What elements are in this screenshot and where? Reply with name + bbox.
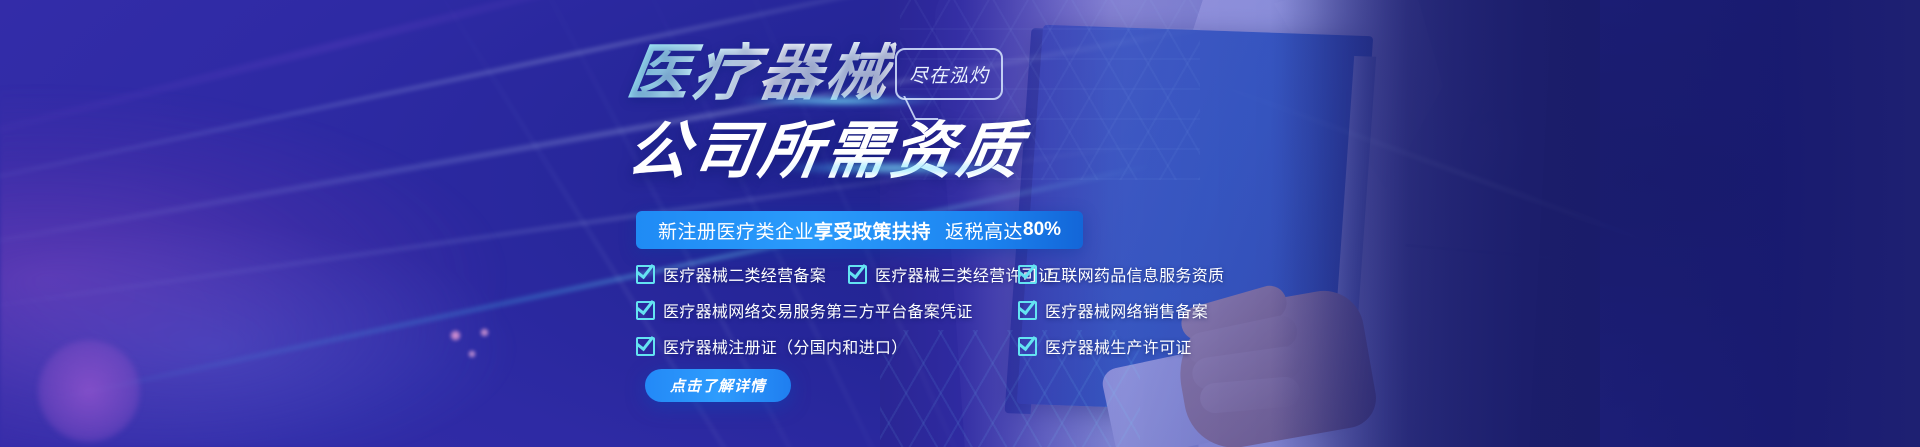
brand-badge: 尽在泓灼 [895,48,1003,100]
qualification-checklist: 医疗器械二类经营备案 医疗器械三类经营许可证 互联网药品信息服务资质 [636,262,1376,370]
brand-badge-label: 尽在泓灼 [909,61,989,88]
list-item[interactable]: 医疗器械注册证（分国内和进口） [636,334,908,358]
banner-content: 医疗器械 公司所需资质 尽在泓灼 新注册医疗类企业 享受政策扶持 返税高达 80… [0,0,1920,447]
checklist-label: 医疗器械生产许可证 [1045,334,1192,358]
checklist-column-right: 医疗器械网络销售备案 [1018,298,1358,322]
list-item[interactable]: 医疗器械网络销售备案 [1018,298,1208,322]
checklist-row: 医疗器械注册证（分国内和进口） 医疗器械生产许可证 [636,334,1376,362]
checklist-label: 医疗器械二类经营备案 [663,262,826,286]
learn-more-button-label: 点击了解详情 [670,375,766,396]
checkbox-checked-icon [1018,337,1037,356]
list-item[interactable]: 医疗器械网络交易服务第三方平台备案凭证 [636,298,973,322]
checklist-label: 互联网药品信息服务资质 [1045,262,1224,286]
promo-text-3: 返税高达 [945,217,1023,244]
checkbox-checked-icon [636,265,655,284]
checkbox-checked-icon [1018,265,1037,284]
promo-text-4: 80% [1023,219,1061,241]
checklist-label: 医疗器械注册证（分国内和进口） [663,334,908,358]
promo-text-1: 新注册医疗类企业 [658,217,814,244]
headline-line1: 医疗器械 [623,42,897,104]
checklist-row: 医疗器械二类经营备案 医疗器械三类经营许可证 互联网药品信息服务资质 [636,262,1376,290]
checklist-row: 医疗器械网络交易服务第三方平台备案凭证 医疗器械网络销售备案 [636,298,1376,326]
checkbox-checked-icon [636,337,655,356]
checkbox-checked-icon [848,265,867,284]
checklist-label: 医疗器械网络销售备案 [1045,298,1208,322]
medical-device-qualification-banner: 医疗器械 公司所需资质 尽在泓灼 新注册医疗类企业 享受政策扶持 返税高达 80… [0,0,1920,447]
checklist-column-right: 互联网药品信息服务资质 [1018,262,1358,286]
checkbox-checked-icon [1018,301,1037,320]
checklist-label: 医疗器械网络交易服务第三方平台备案凭证 [663,298,973,322]
list-item[interactable]: 医疗器械二类经营备案 [636,262,826,286]
promo-text-2: 享受政策扶持 [814,217,931,244]
list-item[interactable]: 医疗器械生产许可证 [1018,334,1192,358]
checkbox-checked-icon [636,301,655,320]
promo-bar: 新注册医疗类企业 享受政策扶持 返税高达 80% [636,211,1083,249]
checklist-column-right: 医疗器械生产许可证 [1018,334,1358,358]
checklist-column-left: 医疗器械注册证（分国内和进口） [636,334,1018,358]
checklist-column-left: 医疗器械网络交易服务第三方平台备案凭证 [636,298,1018,322]
checklist-column-left: 医疗器械二类经营备案 医疗器械三类经营许可证 [636,262,1018,286]
learn-more-button[interactable]: 点击了解详情 [645,369,791,402]
headline-glow-line2 [780,162,1010,174]
list-item[interactable]: 互联网药品信息服务资质 [1018,262,1224,286]
